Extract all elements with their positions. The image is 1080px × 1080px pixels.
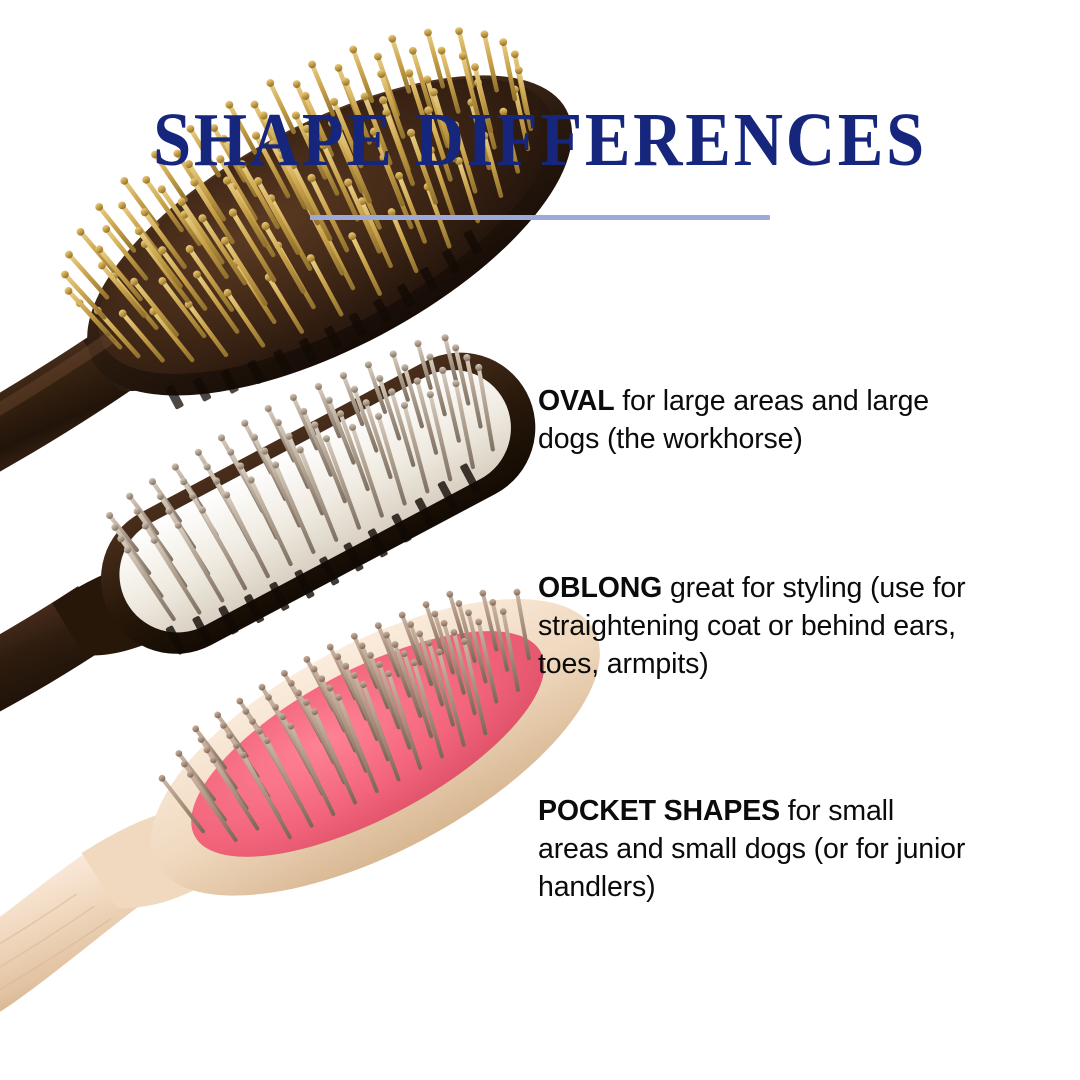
callout-pocket: POCKET SHAPES for small areas and small … (538, 792, 970, 906)
callout-oblong-term: OBLONG (538, 572, 662, 604)
brush-oblong-handle (0, 572, 150, 812)
title-divider (310, 215, 770, 220)
brush-pocket-handle (0, 825, 192, 1080)
brush-oblong-pad (99, 349, 531, 652)
callout-oval: OVAL for large areas and large dogs (the… (538, 382, 970, 458)
brush-oval-pad-rim (40, 11, 618, 460)
page-title: SHAPE DIFFERENCES (54, 98, 1026, 182)
shape-differences-infographic: SHAPE DIFFERENCES OVAL for large areas a… (0, 0, 1080, 1080)
brush-oval-pad (56, 20, 595, 433)
callout-oblong: OBLONG great for styling (use for straig… (538, 569, 970, 683)
callout-pocket-term: POCKET SHAPES (538, 795, 780, 827)
brush-oblong-pad-rim (75, 326, 562, 680)
brush-oval-pins (18, 0, 588, 416)
brush-oval-handle (0, 304, 192, 571)
brush-pocket-pad (160, 587, 576, 902)
callout-oval-term: OVAL (538, 385, 614, 417)
brush-pocket-pins (133, 566, 575, 878)
brush-oblong-pins (87, 320, 529, 634)
